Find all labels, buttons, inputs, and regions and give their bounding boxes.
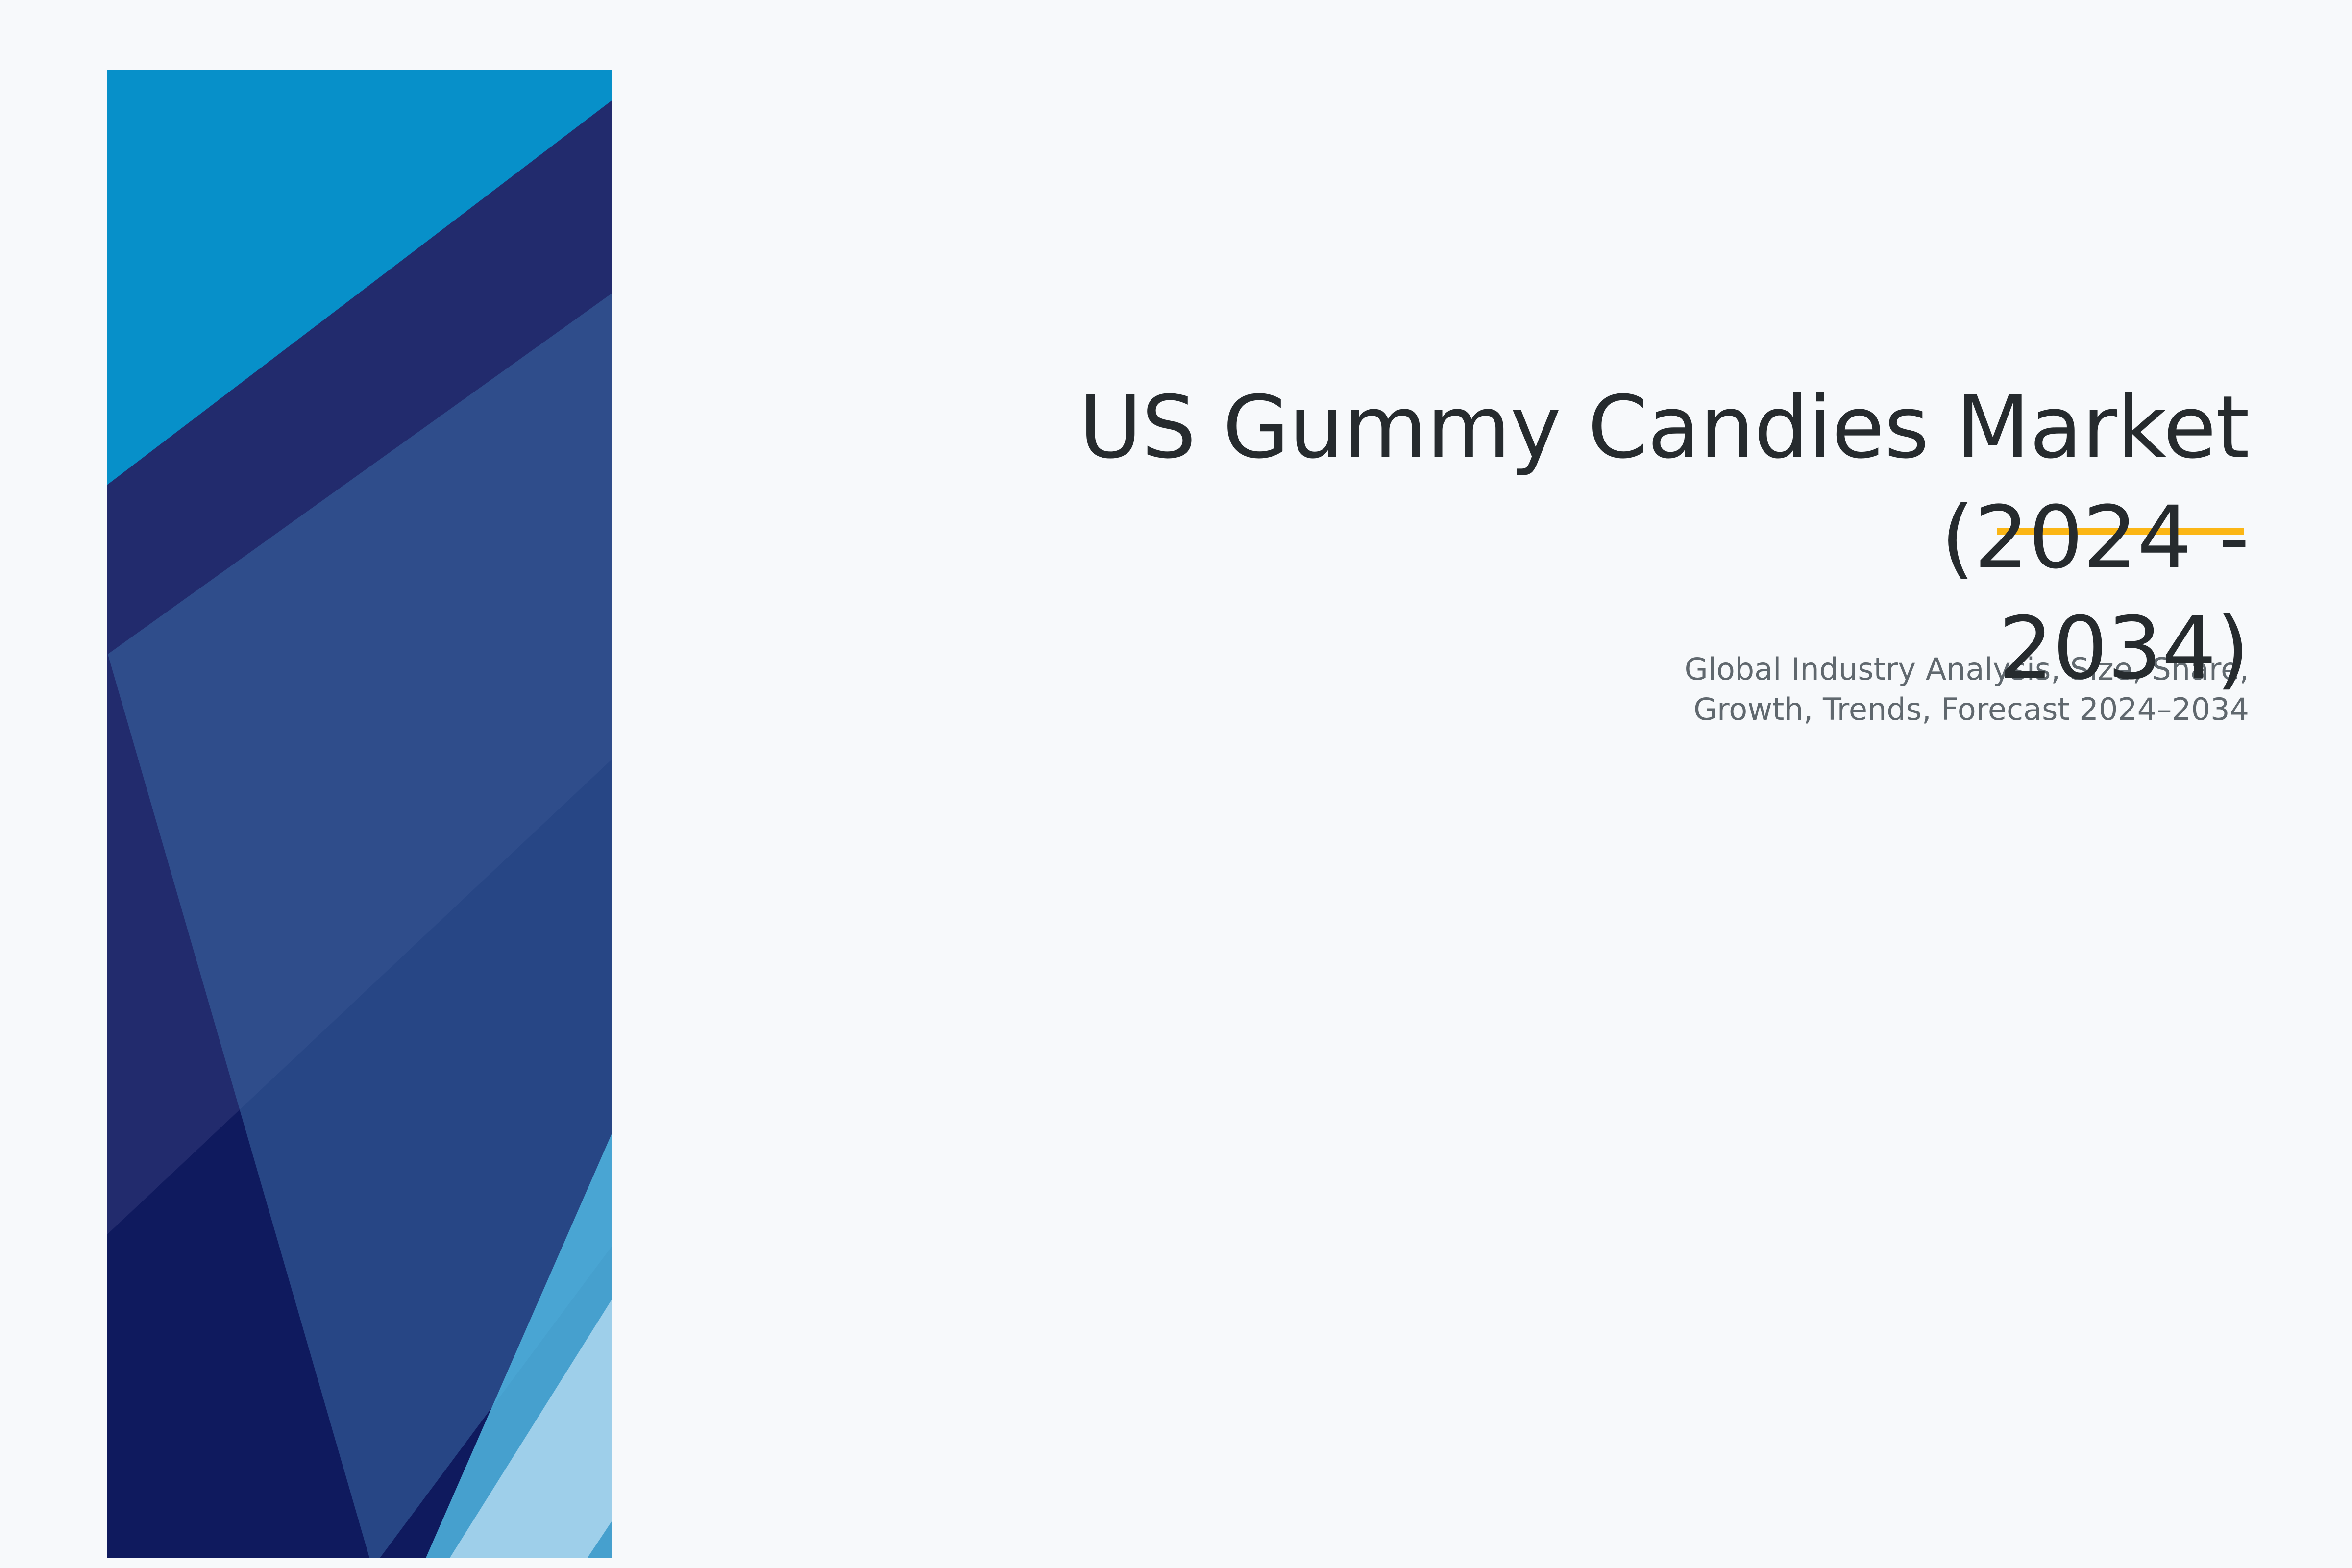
slate-quad-shape bbox=[108, 70, 1284, 1568]
sky-ribbon-shape bbox=[421, 70, 1313, 1568]
cover-page: US Gummy Candies Market (2024 - 2034) Gl… bbox=[0, 0, 2352, 1568]
abstract-polygon-artwork bbox=[0, 0, 2352, 1568]
deep-navy-spike-shape bbox=[107, 665, 711, 1568]
page-title: US Gummy Candies Market (2024 - 2034) bbox=[931, 372, 2249, 704]
navy-wedge-shape bbox=[107, 70, 1617, 1568]
cyan-field-shape bbox=[107, 70, 1617, 1568]
cover-title-block: US Gummy Candies Market (2024 - 2034) bbox=[931, 372, 2249, 704]
